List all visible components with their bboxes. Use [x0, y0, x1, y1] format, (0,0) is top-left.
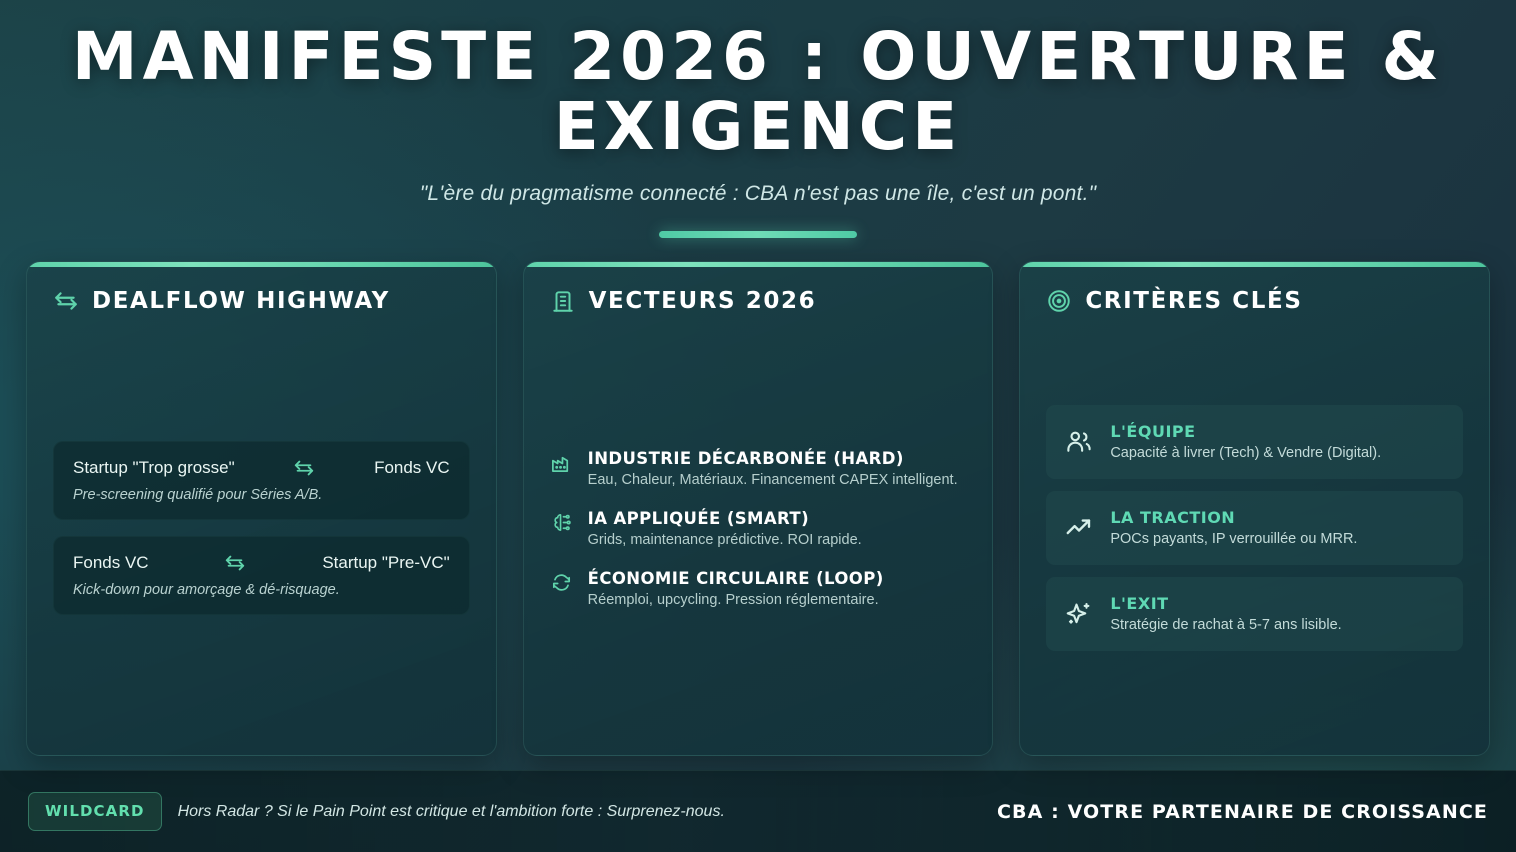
- criteria-description: Stratégie de rachat à 5-7 ans lisible.: [1110, 617, 1341, 633]
- footer: WILDCARD Hors Radar ? Si le Pain Point e…: [0, 770, 1516, 852]
- flow-item[interactable]: Fonds VC Startup "Pre-VC" Kick-down pour…: [53, 536, 470, 615]
- criteria-item[interactable]: L'EXIT Stratégie de rachat à 5-7 ans lis…: [1046, 577, 1463, 651]
- factory-icon: [550, 451, 573, 474]
- flow-item[interactable]: Startup "Trop grosse" Fonds VC Pre-scree…: [53, 441, 470, 520]
- card-header: VECTEURS 2026: [550, 288, 967, 314]
- criteria-text: L'ÉQUIPE Capacité à livrer (Tech) & Vend…: [1110, 422, 1381, 461]
- card-body: INDUSTRIE DÉCARBONÉE (HARD) Eau, Chaleur…: [550, 324, 967, 733]
- card-body: Startup "Trop grosse" Fonds VC Pre-scree…: [53, 324, 470, 733]
- footer-note: Hors Radar ? Si le Pain Point est critiq…: [178, 803, 725, 821]
- flow-source-label: Startup "Trop grosse": [73, 458, 235, 478]
- building-icon: [550, 288, 576, 314]
- flow-note: Pre-screening qualifié pour Séries A/B.: [73, 487, 450, 503]
- card-header: DEALFLOW HIGHWAY: [53, 288, 470, 314]
- criteria-list: L'ÉQUIPE Capacité à livrer (Tech) & Vend…: [1046, 405, 1463, 651]
- vector-item[interactable]: IA APPLIQUÉE (SMART) Grids, maintenance …: [550, 509, 967, 548]
- criteria-text: L'EXIT Stratégie de rachat à 5-7 ans lis…: [1110, 594, 1341, 633]
- arrow-left-right-icon: [53, 288, 79, 314]
- vector-text: INDUSTRIE DÉCARBONÉE (HARD) Eau, Chaleur…: [588, 449, 958, 488]
- vector-list: INDUSTRIE DÉCARBONÉE (HARD) Eau, Chaleur…: [550, 449, 967, 608]
- vector-description: Réemploi, upcycling. Pression réglementa…: [588, 592, 884, 608]
- card-body: L'ÉQUIPE Capacité à livrer (Tech) & Vend…: [1046, 324, 1463, 733]
- criteria-title: L'ÉQUIPE: [1110, 422, 1381, 441]
- card-header: CRITÈRES CLÉS: [1046, 288, 1463, 314]
- trending-up-icon: [1064, 513, 1094, 543]
- flow-source-label: Fonds VC: [73, 553, 149, 573]
- flow-row: Startup "Trop grosse" Fonds VC: [73, 457, 450, 479]
- criteria-title: LA TRACTION: [1110, 508, 1357, 527]
- criteria-title: L'EXIT: [1110, 594, 1341, 613]
- vector-item[interactable]: INDUSTRIE DÉCARBONÉE (HARD) Eau, Chaleur…: [550, 449, 967, 488]
- criteria-description: POCs payants, IP verrouillée ou MRR.: [1110, 531, 1357, 547]
- vector-title: INDUSTRIE DÉCARBONÉE (HARD): [588, 449, 958, 468]
- vector-text: ÉCONOMIE CIRCULAIRE (LOOP) Réemploi, upc…: [588, 569, 884, 608]
- flow-note: Kick-down pour amorçage & dé-risquage.: [73, 582, 450, 598]
- page-title: MANIFESTE 2026 : OUVERTURE & EXIGENCE: [30, 22, 1486, 162]
- card-criteres-cles: CRITÈRES CLÉS: [1019, 261, 1490, 756]
- footer-tagline: CBA : VOTRE PARTENAIRE DE CROISSANCE: [997, 801, 1488, 823]
- page-subtitle: "L'ère du pragmatisme connecté : CBA n'e…: [30, 182, 1486, 206]
- card-title: CRITÈRES CLÉS: [1085, 288, 1302, 314]
- users-icon: [1064, 427, 1094, 457]
- criteria-description: Capacité à livrer (Tech) & Vendre (Digit…: [1110, 445, 1381, 461]
- arrow-left-right-icon: [224, 552, 246, 574]
- infographic-page: MANIFESTE 2026 : OUVERTURE & EXIGENCE "L…: [0, 0, 1516, 852]
- flow-list: Startup "Trop grosse" Fonds VC Pre-scree…: [53, 441, 470, 615]
- flow-target-label: Startup "Pre-VC": [322, 553, 449, 573]
- card-title: DEALFLOW HIGHWAY: [92, 288, 390, 314]
- flow-row: Fonds VC Startup "Pre-VC": [73, 552, 450, 574]
- vector-description: Grids, maintenance prédictive. ROI rapid…: [588, 532, 862, 548]
- cards-grid: DEALFLOW HIGHWAY Startup "Trop grosse": [0, 238, 1516, 756]
- criteria-item[interactable]: L'ÉQUIPE Capacité à livrer (Tech) & Vend…: [1046, 405, 1463, 479]
- header-divider: [659, 231, 857, 238]
- vector-title: ÉCONOMIE CIRCULAIRE (LOOP): [588, 569, 884, 588]
- arrow-left-right-icon: [293, 457, 315, 479]
- vector-item[interactable]: ÉCONOMIE CIRCULAIRE (LOOP) Réemploi, upc…: [550, 569, 967, 608]
- vector-title: IA APPLIQUÉE (SMART): [588, 509, 862, 528]
- target-icon: [1046, 288, 1072, 314]
- brain-circuit-icon: [550, 511, 573, 534]
- status-badge[interactable]: WILDCARD: [28, 792, 162, 831]
- card-title: VECTEURS 2026: [589, 288, 817, 314]
- sparkles-icon: [1064, 599, 1094, 629]
- criteria-item[interactable]: LA TRACTION POCs payants, IP verrouillée…: [1046, 491, 1463, 565]
- header: MANIFESTE 2026 : OUVERTURE & EXIGENCE "L…: [0, 0, 1516, 238]
- criteria-text: LA TRACTION POCs payants, IP verrouillée…: [1110, 508, 1357, 547]
- recycle-refresh-icon: [550, 571, 573, 594]
- vector-description: Eau, Chaleur, Matériaux. Financement CAP…: [588, 472, 958, 488]
- footer-left: WILDCARD Hors Radar ? Si le Pain Point e…: [28, 792, 725, 831]
- vector-text: IA APPLIQUÉE (SMART) Grids, maintenance …: [588, 509, 862, 548]
- flow-target-label: Fonds VC: [374, 458, 450, 478]
- card-dealflow-highway: DEALFLOW HIGHWAY Startup "Trop grosse": [26, 261, 497, 756]
- card-vecteurs-2026: VECTEURS 2026: [523, 261, 994, 756]
